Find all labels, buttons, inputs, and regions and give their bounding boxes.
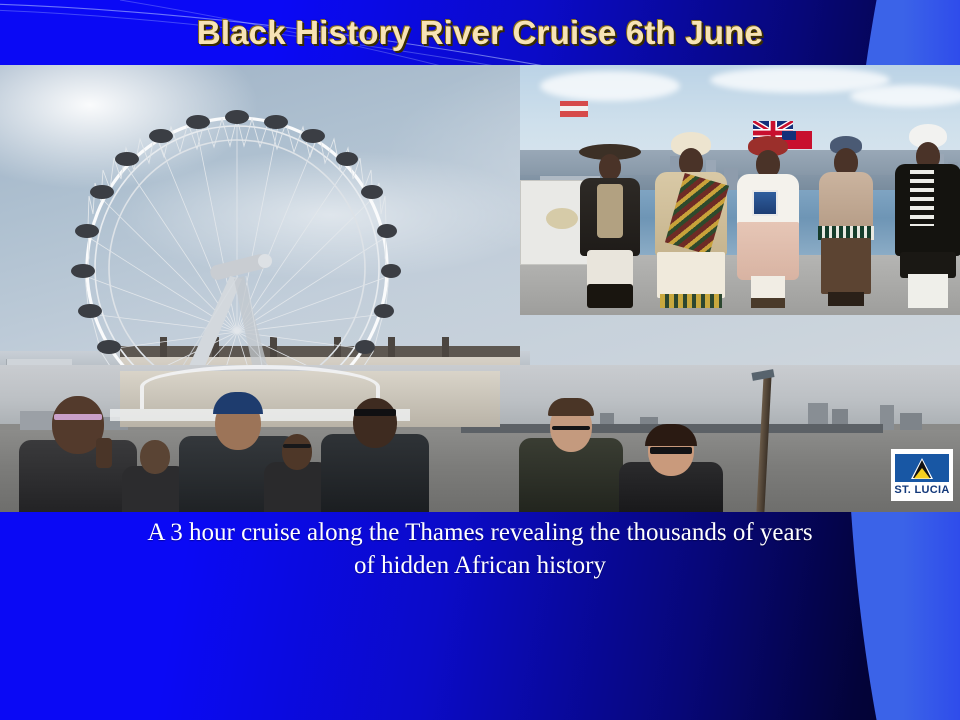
st-lucia-label: ST. LUCIA (894, 485, 949, 496)
page-title: Black History River Cruise 6th June (197, 14, 763, 52)
st-lucia-logo: ST. LUCIA (891, 449, 953, 501)
passenger-5 (320, 398, 430, 512)
slide-title-bar: Black History River Cruise 6th June (0, 0, 960, 65)
photo-costumed-group (520, 65, 960, 315)
photo-collage (0, 65, 960, 512)
background-flag (560, 101, 588, 117)
costumed-person-5 (888, 122, 960, 308)
passenger-7 (616, 428, 726, 512)
st-lucia-flag-icon (895, 454, 949, 482)
costumed-person-1 (570, 138, 650, 308)
caption-line-2: of hidden African history (26, 549, 934, 582)
caption-line-1: A 3 hour cruise along the Thames reveali… (147, 519, 812, 546)
costumed-person-4 (808, 130, 884, 308)
presentation-slide: Black History River Cruise 6th June (0, 0, 960, 720)
slide-caption: A 3 hour cruise along the Thames reveali… (0, 516, 960, 582)
costumed-person-2 (648, 128, 734, 308)
passenger-6 (516, 400, 626, 512)
photo-passengers-on-deck (0, 365, 960, 512)
costumed-person-3 (728, 132, 808, 308)
